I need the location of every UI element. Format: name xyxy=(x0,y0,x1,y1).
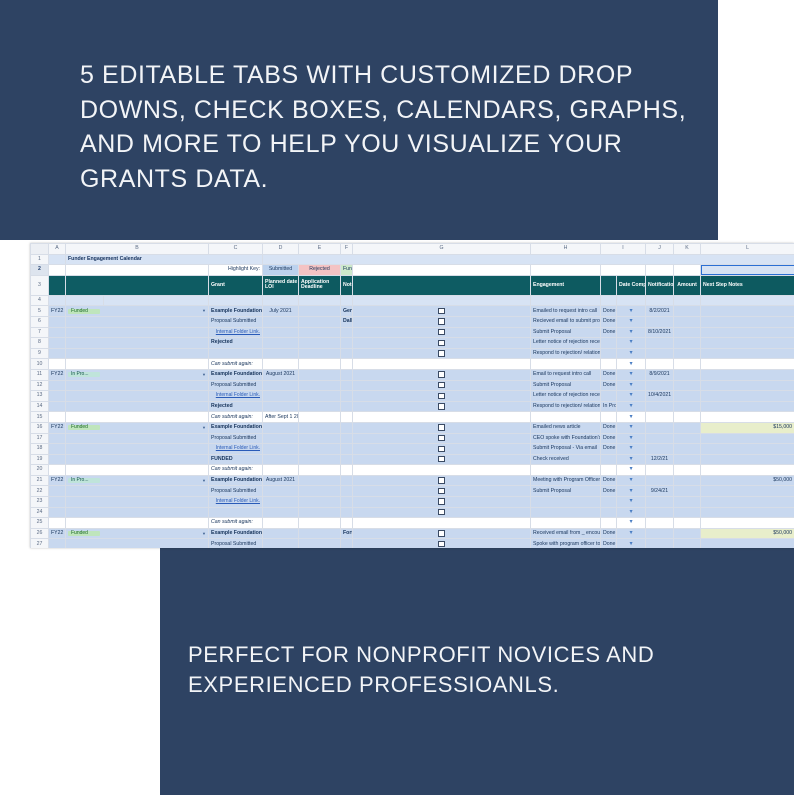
task-checkbox[interactable] xyxy=(353,486,531,497)
task-status[interactable]: Done xyxy=(601,528,617,539)
spreadsheet[interactable]: ABCDEFGHIJKL1Funder Engagement Calendar2… xyxy=(30,243,794,548)
date-completed[interactable] xyxy=(646,422,674,433)
task-status[interactable]: Done xyxy=(601,380,617,391)
chevron-down-icon[interactable]: ▼ xyxy=(617,475,646,486)
status-dropdown[interactable]: In Pro...▼ xyxy=(66,369,209,380)
notification-date[interactable] xyxy=(674,338,701,349)
chevron-down-icon[interactable]: ▼ xyxy=(617,359,646,370)
engagement-task[interactable]: Recieved email to submit proposal xyxy=(531,316,601,327)
cell[interactable] xyxy=(299,412,341,423)
engagement-task[interactable]: Letter notice of rejection received xyxy=(531,391,601,402)
column-header-D[interactable]: D xyxy=(263,244,299,255)
date-completed[interactable] xyxy=(646,444,674,455)
chevron-down-icon[interactable]: ▼ xyxy=(617,306,646,317)
cell[interactable] xyxy=(674,518,701,529)
proposal-submitted-label[interactable]: Proposal Submitted xyxy=(209,380,263,391)
checkbox-icon[interactable] xyxy=(438,509,444,515)
cell[interactable] xyxy=(601,359,617,370)
date-completed[interactable] xyxy=(646,497,674,508)
amount[interactable] xyxy=(701,486,794,497)
status-dropdown[interactable]: Funded▼ xyxy=(66,422,209,433)
task-checkbox[interactable] xyxy=(353,444,531,455)
row-number[interactable]: 23 xyxy=(31,497,49,508)
outcome-label[interactable]: Rejected xyxy=(209,401,263,412)
cell[interactable] xyxy=(341,295,353,306)
notification-date[interactable] xyxy=(674,507,701,518)
cell[interactable] xyxy=(701,518,794,529)
chevron-down-icon[interactable]: ▼ xyxy=(617,518,646,529)
row-number[interactable]: 17 xyxy=(31,433,49,444)
checkbox-icon[interactable] xyxy=(438,435,444,441)
notification-date[interactable] xyxy=(674,380,701,391)
notes[interactable] xyxy=(341,348,353,359)
task-status[interactable] xyxy=(601,454,617,465)
notes[interactable] xyxy=(341,327,353,338)
row-number[interactable]: 13 xyxy=(31,391,49,402)
cell[interactable] xyxy=(66,518,209,529)
column-header-I[interactable]: I xyxy=(601,244,646,255)
application-deadline[interactable] xyxy=(299,454,341,465)
row-number[interactable]: 26 xyxy=(31,528,49,539)
chevron-down-icon[interactable]: ▼ xyxy=(617,486,646,497)
row-number[interactable]: 21 xyxy=(31,475,49,486)
cell[interactable] xyxy=(66,380,209,391)
cell[interactable] xyxy=(353,265,531,276)
cell[interactable] xyxy=(66,401,209,412)
planned-date[interactable] xyxy=(263,327,299,338)
row-number[interactable]: 1 xyxy=(31,254,49,265)
cell[interactable] xyxy=(646,518,674,529)
notes[interactable] xyxy=(341,497,353,508)
folder-link-cell[interactable]: Internal Folder Link. xyxy=(209,327,263,338)
checkbox-icon[interactable] xyxy=(438,318,444,324)
application-deadline[interactable] xyxy=(299,348,341,359)
cell[interactable] xyxy=(263,254,794,265)
grant-name[interactable]: Example Foundation xyxy=(209,528,263,539)
task-status[interactable]: Done xyxy=(601,316,617,327)
folder-link-cell[interactable]: Internal Folder Link. xyxy=(209,391,263,402)
cell[interactable] xyxy=(601,275,617,295)
application-deadline[interactable] xyxy=(299,369,341,380)
task-checkbox[interactable] xyxy=(353,369,531,380)
folder-link-cell[interactable]: Internal Folder Link. xyxy=(209,444,263,455)
engagement-task[interactable]: Letter notice of rejection received xyxy=(531,338,601,349)
amount[interactable] xyxy=(701,327,794,338)
cell[interactable] xyxy=(49,412,66,423)
chevron-down-icon[interactable]: ▼ xyxy=(617,380,646,391)
planned-date[interactable] xyxy=(263,422,299,433)
amount[interactable] xyxy=(701,497,794,508)
internal-folder-link[interactable]: Internal Folder Link. xyxy=(211,446,260,451)
amount[interactable] xyxy=(701,433,794,444)
task-status[interactable] xyxy=(601,348,617,359)
engagement-task[interactable] xyxy=(531,507,601,518)
engagement-task[interactable]: Check received xyxy=(531,454,601,465)
status-dropdown[interactable]: In Pro...▼ xyxy=(66,475,209,486)
application-deadline[interactable] xyxy=(299,528,341,539)
application-deadline[interactable] xyxy=(299,497,341,508)
task-status[interactable]: Done xyxy=(601,475,617,486)
row-number[interactable]: 24 xyxy=(31,507,49,518)
notification-date[interactable] xyxy=(674,422,701,433)
row-number[interactable]: 6 xyxy=(31,316,49,327)
row-number[interactable]: 2 xyxy=(31,265,49,276)
cell[interactable] xyxy=(209,295,263,306)
task-checkbox[interactable] xyxy=(353,433,531,444)
column-header-F[interactable]: F xyxy=(341,244,353,255)
application-deadline[interactable] xyxy=(299,380,341,391)
task-checkbox[interactable] xyxy=(353,475,531,486)
cell[interactable] xyxy=(49,265,66,276)
cell[interactable] xyxy=(299,359,341,370)
task-status[interactable]: Done xyxy=(601,486,617,497)
notes[interactable] xyxy=(341,444,353,455)
task-checkbox[interactable] xyxy=(353,528,531,539)
cell[interactable] xyxy=(601,295,617,306)
cell[interactable] xyxy=(49,465,66,476)
notification-date[interactable] xyxy=(674,348,701,359)
task-status[interactable] xyxy=(601,338,617,349)
notes[interactable] xyxy=(341,369,353,380)
application-deadline[interactable] xyxy=(299,422,341,433)
cell[interactable] xyxy=(209,348,263,359)
status-dropdown[interactable]: Funded▼ xyxy=(66,306,209,317)
engagement-task[interactable]: Spoke with program officer to be sure pr… xyxy=(531,539,601,548)
engagement-task[interactable]: Respond to rejection/ relationship manag… xyxy=(531,348,601,359)
checkbox-icon[interactable] xyxy=(438,329,444,335)
row-number[interactable]: 7 xyxy=(31,327,49,338)
cell[interactable] xyxy=(66,295,104,306)
notes[interactable] xyxy=(341,475,353,486)
date-completed[interactable] xyxy=(646,528,674,539)
cell[interactable] xyxy=(66,316,209,327)
notification-date[interactable] xyxy=(674,475,701,486)
cell[interactable] xyxy=(66,359,209,370)
row-number[interactable]: 9 xyxy=(31,348,49,359)
column-header-G[interactable]: G xyxy=(353,244,531,255)
proposal-submitted-label[interactable]: Proposal Submitted xyxy=(209,486,263,497)
cell[interactable] xyxy=(299,295,341,306)
cell[interactable] xyxy=(353,465,531,476)
notes[interactable] xyxy=(341,433,353,444)
row-number[interactable]: 8 xyxy=(31,338,49,349)
cell[interactable] xyxy=(66,539,209,548)
planned-date[interactable] xyxy=(263,316,299,327)
date-completed[interactable]: 8/2/2021 xyxy=(646,306,674,317)
amount[interactable]: $50,000 xyxy=(701,475,794,486)
cell[interactable] xyxy=(66,433,209,444)
row-number[interactable]: 18 xyxy=(31,444,49,455)
planned-date[interactable] xyxy=(263,401,299,412)
application-deadline[interactable] xyxy=(299,391,341,402)
date-completed[interactable] xyxy=(646,401,674,412)
internal-folder-link[interactable]: Internal Folder Link. xyxy=(211,393,260,398)
planned-date[interactable] xyxy=(263,486,299,497)
cell[interactable] xyxy=(66,454,209,465)
notification-date[interactable] xyxy=(674,454,701,465)
checkbox-icon[interactable] xyxy=(438,340,444,346)
chevron-down-icon[interactable]: ▼ xyxy=(617,507,646,518)
application-deadline[interactable] xyxy=(299,401,341,412)
chevron-down-icon[interactable]: ▼ xyxy=(617,327,646,338)
cell[interactable] xyxy=(66,465,209,476)
cell[interactable] xyxy=(646,359,674,370)
row-number[interactable]: 10 xyxy=(31,359,49,370)
row-number[interactable]: 25 xyxy=(31,518,49,529)
cell[interactable] xyxy=(66,412,209,423)
cell[interactable] xyxy=(601,465,617,476)
amount[interactable] xyxy=(701,338,794,349)
cell[interactable] xyxy=(674,359,701,370)
engagement-task[interactable]: Submit Proposal xyxy=(531,486,601,497)
cell[interactable] xyxy=(353,359,531,370)
checkbox-icon[interactable] xyxy=(438,530,444,536)
task-checkbox[interactable] xyxy=(353,338,531,349)
task-checkbox[interactable] xyxy=(353,422,531,433)
proposal-submitted-label[interactable]: Proposal Submitted xyxy=(209,433,263,444)
row-number[interactable]: 15 xyxy=(31,412,49,423)
outcome-label[interactable] xyxy=(209,507,263,518)
cell[interactable] xyxy=(66,327,209,338)
checkbox-icon[interactable] xyxy=(438,541,444,547)
cell[interactable] xyxy=(66,497,209,508)
task-status[interactable] xyxy=(601,507,617,518)
notes[interactable] xyxy=(341,380,353,391)
cell[interactable] xyxy=(49,254,66,265)
cell[interactable] xyxy=(674,412,701,423)
chevron-down-icon[interactable]: ▼ xyxy=(617,433,646,444)
cell[interactable] xyxy=(674,295,701,306)
column-header-J[interactable]: J xyxy=(646,244,674,255)
task-status[interactable] xyxy=(601,391,617,402)
chevron-down-icon[interactable]: ▼ xyxy=(617,348,646,359)
chevron-down-icon[interactable]: ▼ xyxy=(617,338,646,349)
spreadsheet-grid[interactable]: ABCDEFGHIJKL1Funder Engagement Calendar2… xyxy=(30,243,794,548)
row-number[interactable]: 22 xyxy=(31,486,49,497)
notification-date[interactable] xyxy=(674,444,701,455)
cell[interactable] xyxy=(701,412,794,423)
chevron-down-icon[interactable]: ▼ xyxy=(617,412,646,423)
cell[interactable] xyxy=(531,518,601,529)
column-header-K[interactable]: K xyxy=(674,244,701,255)
cell[interactable] xyxy=(341,518,353,529)
cell[interactable] xyxy=(646,412,674,423)
row-number[interactable]: 19 xyxy=(31,454,49,465)
chevron-down-icon[interactable]: ▼ xyxy=(202,479,206,483)
status-dropdown[interactable]: Funded▼ xyxy=(66,528,209,539)
grant-name[interactable]: Example Foundation xyxy=(209,369,263,380)
notification-date[interactable] xyxy=(674,497,701,508)
cell[interactable] xyxy=(601,265,646,276)
outcome-label[interactable]: FUNDED xyxy=(209,454,263,465)
planned-date[interactable] xyxy=(263,433,299,444)
cell[interactable] xyxy=(353,518,531,529)
column-header-B[interactable]: B xyxy=(66,244,209,255)
cell[interactable] xyxy=(353,412,531,423)
planned-date[interactable] xyxy=(263,454,299,465)
date-completed[interactable]: 12/2/21 xyxy=(646,454,674,465)
grant-name[interactable]: Example Foundation xyxy=(209,422,263,433)
application-deadline[interactable] xyxy=(299,507,341,518)
notes[interactable] xyxy=(341,507,353,518)
amount[interactable]: $50,000 xyxy=(701,528,794,539)
checkbox-icon[interactable] xyxy=(438,382,444,388)
chevron-down-icon[interactable]: ▼ xyxy=(617,422,646,433)
chevron-down-icon[interactable]: ▼ xyxy=(202,373,206,377)
chevron-down-icon[interactable]: ▼ xyxy=(617,454,646,465)
planned-date[interactable] xyxy=(263,507,299,518)
notification-date[interactable] xyxy=(674,391,701,402)
application-deadline[interactable] xyxy=(299,316,341,327)
checkbox-icon[interactable] xyxy=(438,371,444,377)
date-completed[interactable]: 10/4/2021 xyxy=(646,391,674,402)
row-number[interactable]: 14 xyxy=(31,401,49,412)
date-completed[interactable] xyxy=(646,380,674,391)
internal-folder-link[interactable]: Internal Folder Link. xyxy=(211,330,260,335)
amount[interactable] xyxy=(701,507,794,518)
chevron-down-icon[interactable]: ▼ xyxy=(617,401,646,412)
can-submit-again-value[interactable] xyxy=(263,518,299,529)
notes[interactable] xyxy=(341,539,353,548)
notes[interactable] xyxy=(341,338,353,349)
chevron-down-icon[interactable]: ▼ xyxy=(617,528,646,539)
engagement-task[interactable]: Submit Proposal xyxy=(531,327,601,338)
task-checkbox[interactable] xyxy=(353,391,531,402)
notes[interactable]: Fort Worth xyxy=(341,528,353,539)
planned-date[interactable] xyxy=(263,444,299,455)
application-deadline[interactable] xyxy=(299,539,341,548)
notes[interactable]: Gen Operating xyxy=(341,306,353,317)
cell[interactable] xyxy=(66,391,209,402)
task-status[interactable] xyxy=(601,497,617,508)
checkbox-icon[interactable] xyxy=(438,308,444,314)
chevron-down-icon[interactable]: ▼ xyxy=(617,497,646,508)
cell[interactable] xyxy=(263,295,299,306)
application-deadline[interactable] xyxy=(299,444,341,455)
notification-date[interactable] xyxy=(674,369,701,380)
amount[interactable] xyxy=(701,391,794,402)
application-deadline[interactable] xyxy=(299,306,341,317)
column-header-H[interactable]: H xyxy=(531,244,601,255)
row-number[interactable]: 27 xyxy=(31,539,49,548)
cell[interactable] xyxy=(353,295,531,306)
cell[interactable] xyxy=(601,412,617,423)
cell[interactable] xyxy=(646,295,674,306)
row-number[interactable]: 5 xyxy=(31,306,49,317)
checkbox-icon[interactable] xyxy=(438,403,444,409)
cell[interactable] xyxy=(674,265,701,276)
chevron-down-icon[interactable]: ▼ xyxy=(617,465,646,476)
cell[interactable] xyxy=(531,412,601,423)
amount[interactable] xyxy=(701,539,794,548)
checkbox-icon[interactable] xyxy=(438,498,444,504)
planned-date[interactable] xyxy=(263,528,299,539)
engagement-task[interactable]: Emailed news article xyxy=(531,422,601,433)
cell[interactable] xyxy=(299,465,341,476)
amount[interactable] xyxy=(701,369,794,380)
planned-date[interactable] xyxy=(263,338,299,349)
row-number[interactable]: 3 xyxy=(31,275,49,295)
task-status[interactable]: Done xyxy=(601,539,617,548)
amount[interactable] xyxy=(701,306,794,317)
notes[interactable] xyxy=(341,486,353,497)
notes[interactable] xyxy=(341,391,353,402)
cell[interactable] xyxy=(66,507,209,518)
application-deadline[interactable] xyxy=(299,486,341,497)
cell[interactable] xyxy=(66,486,209,497)
cell[interactable] xyxy=(701,295,794,306)
select-all-corner[interactable] xyxy=(31,244,49,255)
engagement-task[interactable]: CEO spoke with Foundation's ED, encourag… xyxy=(531,433,601,444)
application-deadline[interactable] xyxy=(299,327,341,338)
chevron-down-icon[interactable]: ▼ xyxy=(617,539,646,548)
notes[interactable] xyxy=(341,422,353,433)
engagement-task[interactable]: Respond to rejection/ relationship manag… xyxy=(531,401,601,412)
column-header-L[interactable]: L xyxy=(701,244,794,255)
folder-link-cell[interactable]: Internal Folder Link. xyxy=(209,497,263,508)
engagement-task[interactable] xyxy=(531,497,601,508)
row-number[interactable]: 12 xyxy=(31,380,49,391)
date-completed[interactable] xyxy=(646,338,674,349)
cell[interactable] xyxy=(49,518,66,529)
cell[interactable] xyxy=(617,295,646,306)
application-deadline[interactable] xyxy=(299,338,341,349)
date-completed[interactable] xyxy=(646,507,674,518)
notification-date[interactable] xyxy=(674,306,701,317)
task-status[interactable]: Done xyxy=(601,444,617,455)
task-checkbox[interactable] xyxy=(353,316,531,327)
cell[interactable] xyxy=(646,465,674,476)
task-checkbox[interactable] xyxy=(353,497,531,508)
cell[interactable] xyxy=(531,359,601,370)
engagement-task[interactable]: Submit Proposal - Via email xyxy=(531,444,601,455)
cell[interactable] xyxy=(353,275,531,295)
application-deadline[interactable] xyxy=(299,475,341,486)
planned-date[interactable] xyxy=(263,539,299,548)
chevron-down-icon[interactable]: ▼ xyxy=(617,444,646,455)
can-submit-again-value[interactable] xyxy=(263,359,299,370)
checkbox-icon[interactable] xyxy=(438,477,444,483)
planned-date[interactable] xyxy=(263,348,299,359)
notes[interactable] xyxy=(341,401,353,412)
chevron-down-icon[interactable]: ▼ xyxy=(202,309,206,313)
cell[interactable] xyxy=(66,265,209,276)
chevron-down-icon[interactable]: ▼ xyxy=(202,426,206,430)
column-header-A[interactable]: A xyxy=(49,244,66,255)
notification-date[interactable] xyxy=(674,539,701,548)
grant-name[interactable]: Example Foundation xyxy=(209,306,263,317)
date-completed[interactable] xyxy=(646,316,674,327)
notification-date[interactable] xyxy=(674,316,701,327)
date-completed[interactable] xyxy=(646,539,674,548)
application-deadline[interactable] xyxy=(299,433,341,444)
cell[interactable] xyxy=(299,518,341,529)
date-completed[interactable]: 8/9/2021 xyxy=(646,369,674,380)
row-number[interactable]: 4 xyxy=(31,295,49,306)
cell[interactable] xyxy=(646,265,674,276)
cell[interactable] xyxy=(66,338,209,349)
task-status[interactable]: Done xyxy=(601,369,617,380)
amount[interactable] xyxy=(701,454,794,465)
task-checkbox[interactable] xyxy=(353,327,531,338)
cell[interactable] xyxy=(601,518,617,529)
internal-folder-link[interactable]: Internal Folder Link. xyxy=(211,499,260,504)
cell[interactable] xyxy=(531,465,601,476)
amount[interactable]: $15,000 xyxy=(701,422,794,433)
chevron-down-icon[interactable]: ▼ xyxy=(617,316,646,327)
checkbox-icon[interactable] xyxy=(438,446,444,452)
notes[interactable]: Dallas xyxy=(341,316,353,327)
